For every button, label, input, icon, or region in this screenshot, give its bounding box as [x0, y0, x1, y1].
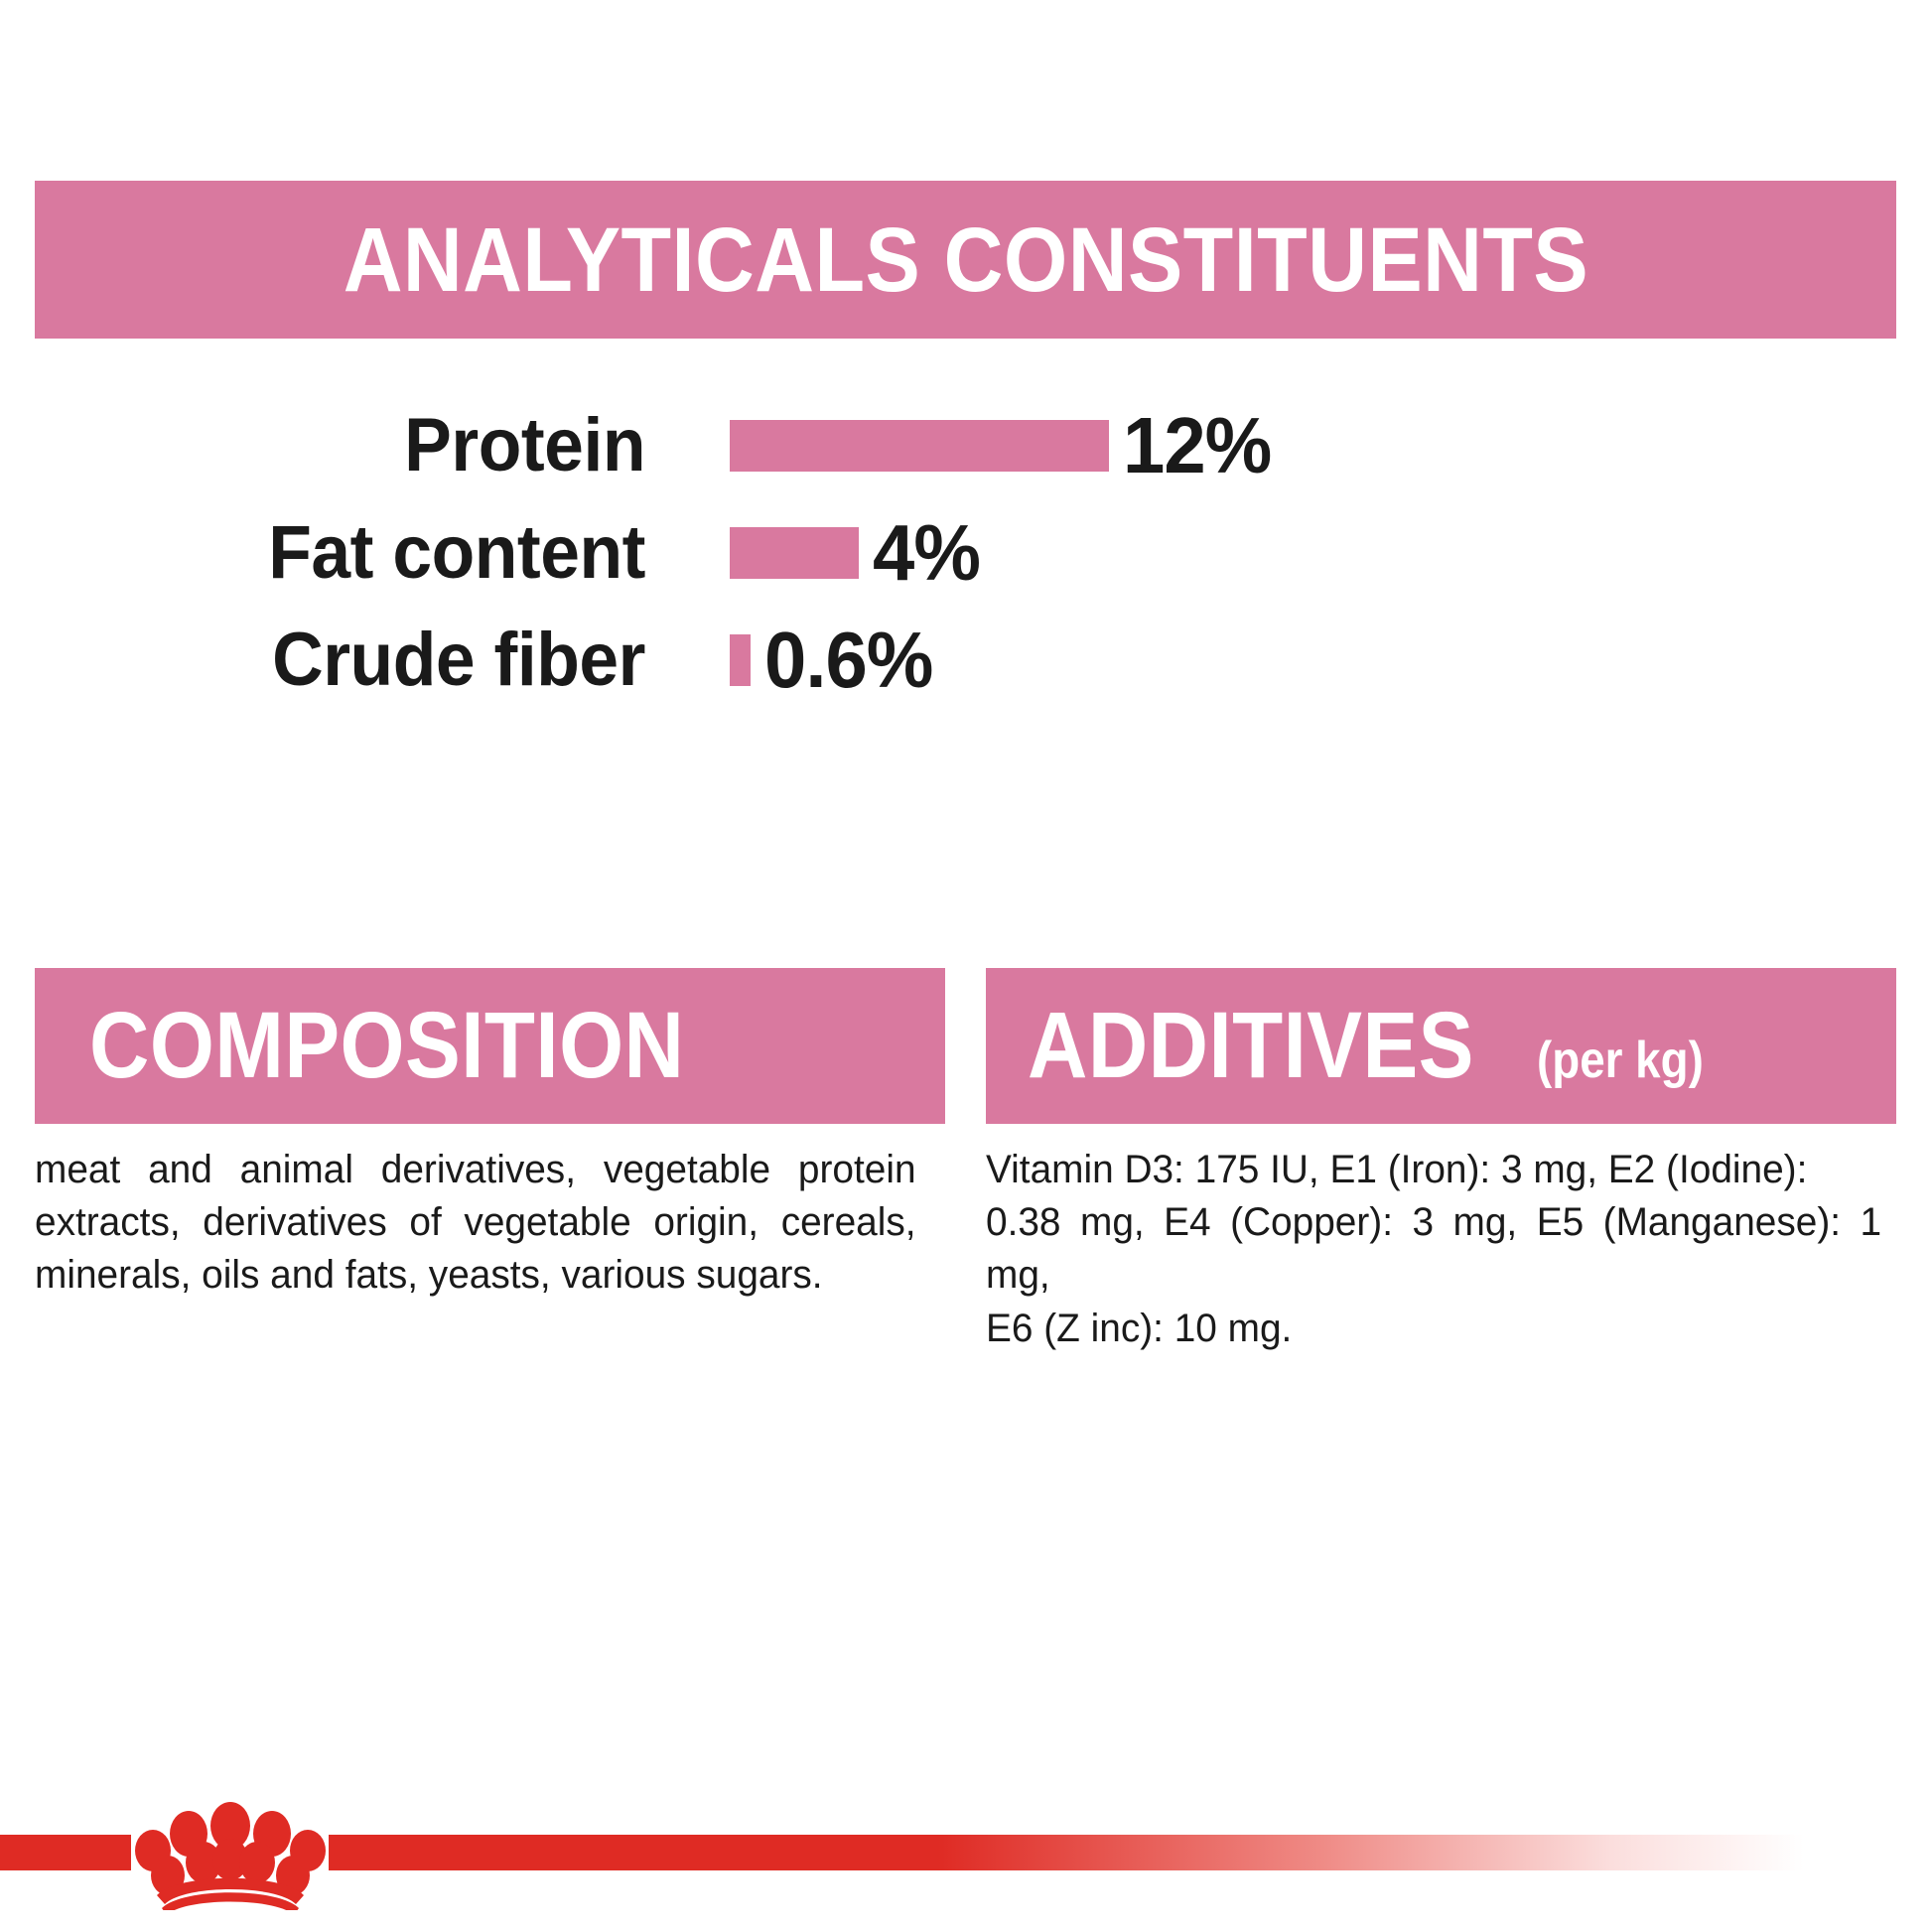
table-row: Fat content 4% [0, 499, 1932, 607]
analytical-bar-track-fat-content: 4% [730, 513, 986, 593]
footer-rule-left [0, 1835, 131, 1870]
analytical-bar-track-protein: 12% [730, 406, 1279, 485]
analyticals-constituents-header: ANALYTICALS CONSTITUENTS [35, 181, 1896, 339]
analyticals-chart: Protein 12% Fat content 4% Crude fiber 0… [0, 392, 1932, 714]
additives-header: ADDITIVES (per kg) [986, 968, 1896, 1124]
additives-header-title: ADDITIVES [1028, 999, 1474, 1093]
additives-header-subtitle: (per kg) [1537, 1035, 1704, 1086]
royal-canin-crown-logo [131, 1793, 330, 1910]
analytical-bar-fat-content [730, 527, 859, 579]
analytical-bar-protein [730, 420, 1109, 472]
footer-rule-right [329, 1835, 1932, 1870]
additives-body-line-1: Vitamin D3: 175 IU, E1 (Iron): 3 mg, E2 … [986, 1144, 1881, 1196]
composition-header-title: COMPOSITION [89, 999, 684, 1093]
additives-body-line-2: 0.38 mg, E4 (Copper): 3 mg, E5 (Manganes… [986, 1196, 1881, 1302]
analytical-value-protein: 12% [1123, 406, 1271, 485]
table-row: Crude fiber 0.6% [0, 607, 1932, 714]
composition-body-text: meat and animal derivatives, vegetable p… [35, 1144, 916, 1303]
analytical-bar-crude-fiber [730, 634, 751, 686]
analyticals-header-title: ANALYTICALS CONSTITUENTS [343, 214, 1587, 306]
analytical-bar-track-crude-fiber: 0.6% [730, 621, 941, 700]
analytical-label-crude-fiber: Crude fiber [39, 622, 645, 698]
analytical-label-protein: Protein [39, 408, 645, 483]
additives-body-line-3: E6 (Z inc): 10 mg. [986, 1303, 1881, 1355]
analytical-value-fat-content: 4% [873, 513, 980, 593]
composition-header: COMPOSITION [35, 968, 945, 1124]
footer [0, 1815, 1932, 1874]
analytical-value-crude-fiber: 0.6% [764, 621, 932, 700]
table-row: Protein 12% [0, 392, 1932, 499]
analytical-label-fat-content: Fat content [39, 515, 645, 591]
additives-body-text: Vitamin D3: 175 IU, E1 (Iron): 3 mg, E2 … [986, 1144, 1881, 1355]
